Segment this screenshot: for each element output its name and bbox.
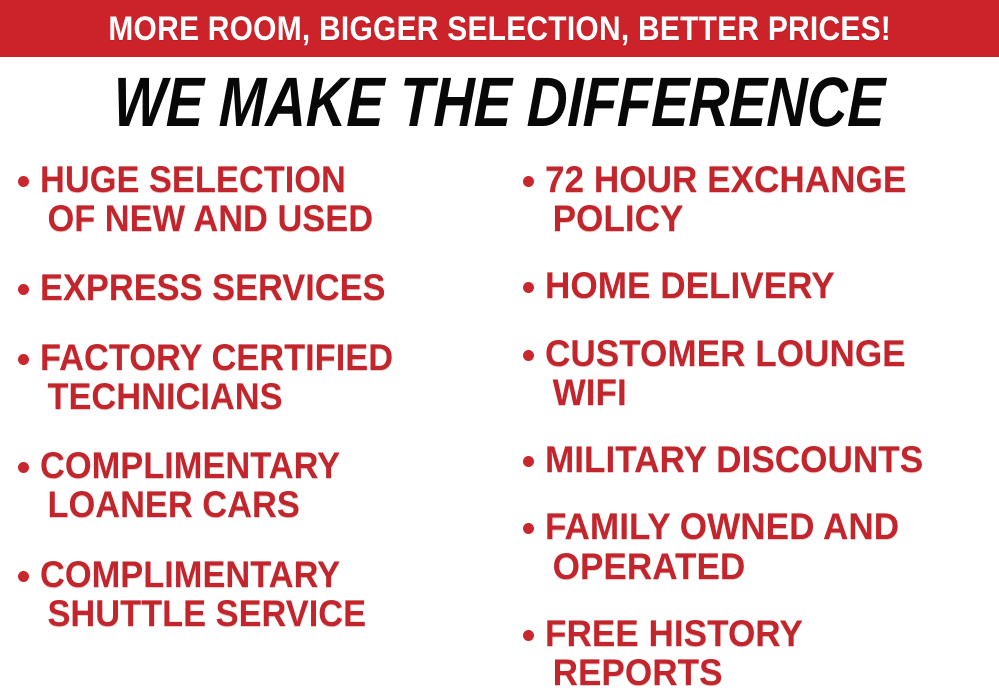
list-item: FAMILY OWNED AND OPERATED <box>523 507 999 585</box>
list-item-text: CUSTOMER LOUNGE WIFI <box>545 334 999 412</box>
list-item-text: FAMILY OWNED AND OPERATED <box>545 507 999 585</box>
bullet-dot-icon <box>18 462 29 473</box>
list-item-line1: 72 HOUR EXCHANGE <box>545 160 976 199</box>
list-item-line2: REPORTS <box>545 653 976 692</box>
list-item-text: COMPLIMENTARY SHUTTLE SERVICE <box>40 555 505 633</box>
list-item-text: HOME DELIVERY <box>545 266 999 305</box>
benefits-column-left: HUGE SELECTION OF NEW AND USED EXPRESS S… <box>0 152 505 692</box>
list-item: HUGE SELECTION OF NEW AND USED <box>18 160 505 238</box>
headline-container: WE MAKE THE DIFFERENCE <box>0 62 999 142</box>
list-item-line1: FACTORY CERTIFIED <box>40 338 472 377</box>
list-item: MILITARY DISCOUNTS <box>523 440 999 479</box>
bullet-dot-icon <box>18 176 29 187</box>
list-item-line1: HOME DELIVERY <box>545 266 976 305</box>
list-item-line1: CUSTOMER LOUNGE <box>545 334 976 373</box>
list-item-line1: EXPRESS SERVICES <box>40 268 472 307</box>
bullet-dot-icon <box>523 282 534 293</box>
bullet-dot-icon <box>523 350 534 361</box>
promo-banner: MORE ROOM, BIGGER SELECTION, BETTER PRIC… <box>0 0 999 57</box>
list-item-line1: COMPLIMENTARY <box>40 446 472 485</box>
list-item: FREE HISTORY REPORTS <box>523 614 999 692</box>
list-item-line1: MILITARY DISCOUNTS <box>545 440 976 479</box>
list-item-line2: WIFI <box>545 373 976 412</box>
list-item-line2: OPERATED <box>545 547 976 586</box>
list-item: EXPRESS SERVICES <box>18 268 505 307</box>
bullet-dot-icon <box>18 571 29 582</box>
list-item: FACTORY CERTIFIED TECHNICIANS <box>18 338 505 416</box>
list-item-text: COMPLIMENTARY LOANER CARS <box>40 446 505 524</box>
list-item-line2: OF NEW AND USED <box>40 199 472 238</box>
list-item: HOME DELIVERY <box>523 266 999 305</box>
bullet-dot-icon <box>18 284 29 295</box>
list-item-text: HUGE SELECTION OF NEW AND USED <box>40 160 505 238</box>
benefits-columns: HUGE SELECTION OF NEW AND USED EXPRESS S… <box>0 152 999 692</box>
bullet-dot-icon <box>523 630 534 641</box>
list-item-text: FREE HISTORY REPORTS <box>545 614 999 692</box>
list-item: COMPLIMENTARY LOANER CARS <box>18 446 505 524</box>
list-item-line2: LOANER CARS <box>40 485 472 524</box>
promo-banner-text: MORE ROOM, BIGGER SELECTION, BETTER PRIC… <box>108 12 891 46</box>
list-item-line2: POLICY <box>545 199 976 238</box>
list-item-text: EXPRESS SERVICES <box>40 268 505 307</box>
list-item-line1: FREE HISTORY <box>545 614 976 653</box>
list-item-line1: HUGE SELECTION <box>40 160 472 199</box>
bullet-dot-icon <box>18 354 29 365</box>
list-item-text: 72 HOUR EXCHANGE POLICY <box>545 160 999 238</box>
benefits-column-right: 72 HOUR EXCHANGE POLICY HOME DELIVERY CU… <box>505 152 999 692</box>
list-item-text: MILITARY DISCOUNTS <box>545 440 999 479</box>
bullet-dot-icon <box>523 176 534 187</box>
page-title: WE MAKE THE DIFFERENCE <box>113 67 887 137</box>
advertisement-banner: MORE ROOM, BIGGER SELECTION, BETTER PRIC… <box>0 0 999 692</box>
list-item: CUSTOMER LOUNGE WIFI <box>523 334 999 412</box>
list-item: 72 HOUR EXCHANGE POLICY <box>523 160 999 238</box>
list-item: COMPLIMENTARY SHUTTLE SERVICE <box>18 555 505 633</box>
list-item-line1: FAMILY OWNED AND <box>545 507 976 546</box>
list-item-line1: COMPLIMENTARY <box>40 555 472 594</box>
bullet-dot-icon <box>523 456 534 467</box>
bullet-dot-icon <box>523 523 534 534</box>
list-item-line2: SHUTTLE SERVICE <box>40 594 472 633</box>
list-item-text: FACTORY CERTIFIED TECHNICIANS <box>40 338 505 416</box>
list-item-line2: TECHNICIANS <box>40 377 472 416</box>
